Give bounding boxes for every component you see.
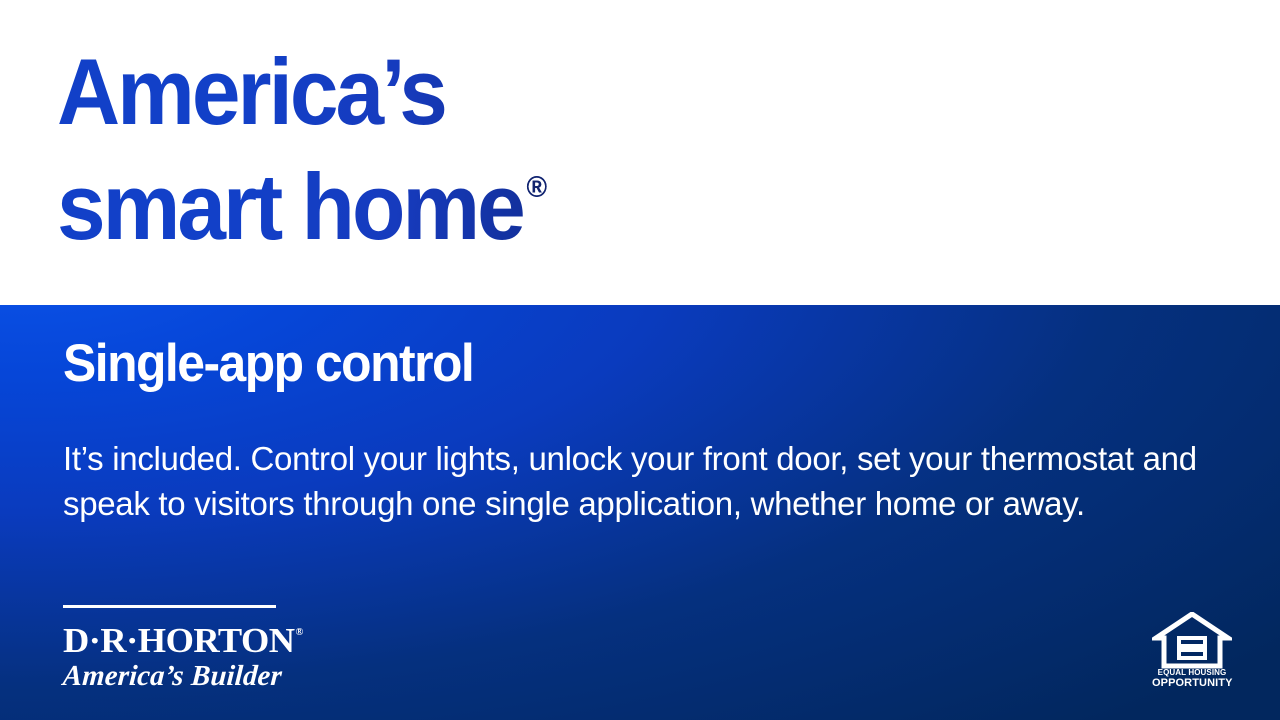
- feature-panel: Single-app control It’s included. Contro…: [0, 305, 1280, 720]
- hero-headline-line-2-text: smart home: [57, 154, 523, 259]
- equal-housing-opportunity-logo: EQUAL HOUSING OPPORTUNITY: [1152, 612, 1232, 690]
- hero-band: America’s smart home®: [0, 0, 1280, 305]
- equal-housing-caption-line-1: EQUAL HOUSING: [1152, 668, 1232, 677]
- dr-horton-registered-icon: ®: [296, 627, 304, 638]
- hero-logotype: America’s smart home®: [57, 46, 757, 253]
- logo-divider-rule: [63, 605, 276, 608]
- equal-housing-caption: EQUAL HOUSING OPPORTUNITY: [1152, 668, 1232, 689]
- registered-trademark-icon: ®: [527, 142, 548, 234]
- dr-horton-tagline: America’s Builder: [62, 660, 278, 692]
- smart-home-marketing-slide: America’s smart home® Single-app control…: [0, 0, 1280, 720]
- equal-housing-house-icon: [1152, 612, 1232, 670]
- hero-headline-line-2: smart home®: [57, 142, 708, 253]
- dr-horton-logo: D·R·HORTON® America’s Builder: [63, 605, 279, 692]
- feature-heading: Single-app control: [63, 336, 473, 392]
- feature-description: It’s included. Control your lights, unlo…: [63, 436, 1198, 526]
- hero-headline-line-1: America’s: [57, 46, 708, 138]
- dr-horton-wordmark-text: D·R·HORTON: [63, 621, 295, 660]
- equal-housing-caption-line-2: OPPORTUNITY: [1152, 677, 1232, 689]
- dr-horton-wordmark: D·R·HORTON®: [63, 615, 288, 659]
